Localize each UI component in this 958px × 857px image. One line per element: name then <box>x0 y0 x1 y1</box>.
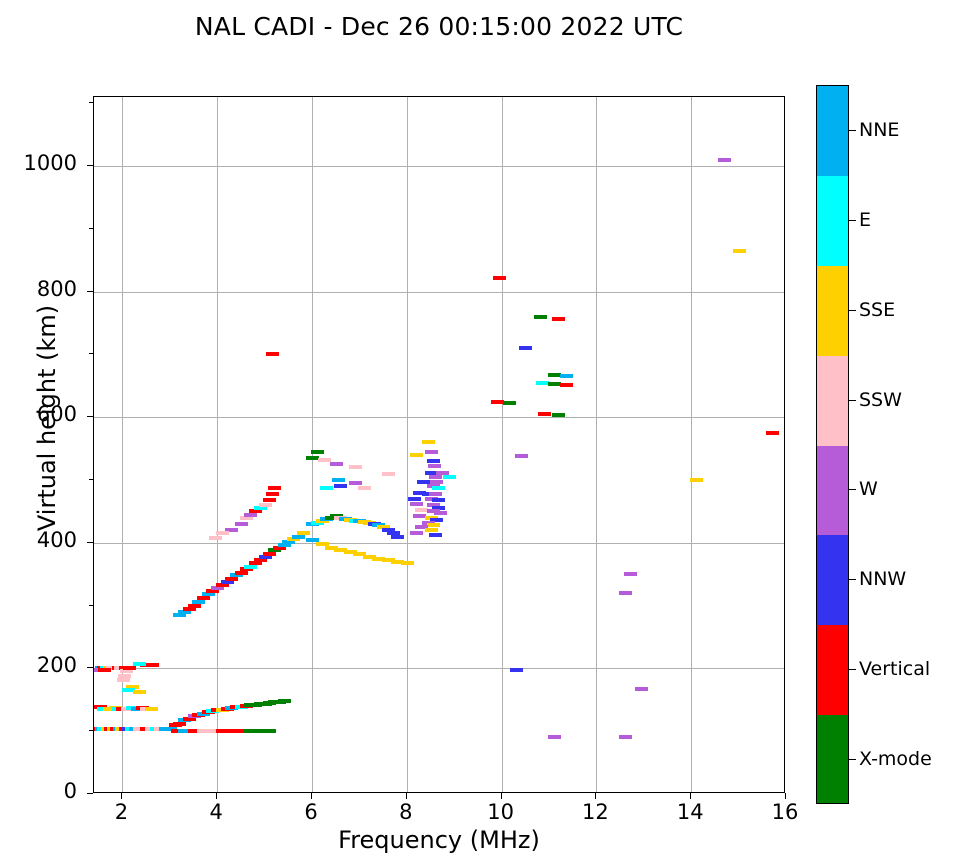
gridline-horizontal <box>94 166 784 167</box>
data-mark <box>263 498 276 502</box>
data-mark <box>519 346 532 350</box>
data-mark <box>408 497 421 501</box>
gridline-vertical <box>691 97 692 792</box>
colorbar-label-sse: SSE <box>859 299 895 321</box>
x-axis-tick-label: 10 <box>471 800 531 824</box>
data-mark <box>690 478 703 482</box>
data-mark <box>197 596 210 600</box>
gridline-vertical <box>502 97 503 792</box>
data-mark <box>235 571 248 575</box>
y-axis-tick <box>87 165 93 166</box>
colorbar-segment-sse[interactable] <box>817 266 848 356</box>
y-axis-tick <box>87 793 93 794</box>
data-mark <box>235 522 248 526</box>
data-mark <box>436 471 449 475</box>
data-mark <box>635 687 648 691</box>
x-axis-tick <box>311 793 312 799</box>
data-mark <box>552 413 565 417</box>
colorbar-tick <box>849 130 856 131</box>
data-mark <box>434 511 447 515</box>
data-mark <box>510 668 523 672</box>
data-mark <box>552 317 565 321</box>
y-axis-tick-label: 0 <box>0 779 77 803</box>
data-mark <box>619 591 632 595</box>
y-axis-label: Virtual height (km) <box>33 238 61 598</box>
data-mark <box>515 454 528 458</box>
colorbar-label-e: E <box>859 209 871 231</box>
colorbar-tick <box>849 489 856 490</box>
data-mark <box>432 486 445 490</box>
colorbar-tick <box>849 400 856 401</box>
data-mark <box>401 561 414 565</box>
data-mark <box>619 735 632 739</box>
data-mark <box>192 600 205 604</box>
y-axis-minor-tick <box>89 479 93 480</box>
colorbar-label-ssw: SSW <box>859 389 902 411</box>
x-axis-tick-label: 2 <box>91 800 151 824</box>
colorbar-tick <box>849 310 856 311</box>
colorbar-segment-nne[interactable] <box>817 86 848 176</box>
y-axis-minor-tick <box>89 353 93 354</box>
data-mark <box>268 486 281 490</box>
y-axis-minor-tick <box>89 605 93 606</box>
y-axis-tick <box>87 542 93 543</box>
data-mark <box>560 374 573 378</box>
x-axis-tick-label: 16 <box>755 800 815 824</box>
colorbar-tick <box>849 579 856 580</box>
data-mark <box>538 412 551 416</box>
data-mark <box>98 668 111 672</box>
x-axis-tick <box>595 793 596 799</box>
data-mark <box>173 722 186 726</box>
ionogram-figure: NAL CADI - Dec 26 00:15:00 2022 UTC 2468… <box>0 0 958 857</box>
y-axis-minor-tick <box>89 228 93 229</box>
data-mark <box>425 528 438 532</box>
x-axis-tick-label: 6 <box>281 800 341 824</box>
data-mark <box>278 699 291 703</box>
gridline-horizontal <box>94 543 784 544</box>
gridline-vertical <box>596 97 597 792</box>
data-mark <box>133 690 146 694</box>
colorbar-label-w: W <box>859 478 878 500</box>
y-axis-minor-tick <box>89 102 93 103</box>
data-mark <box>427 523 440 527</box>
gridline-vertical <box>407 97 408 792</box>
gridline-horizontal <box>94 292 784 293</box>
data-mark <box>733 249 746 253</box>
data-mark <box>429 475 442 479</box>
data-mark <box>358 486 371 490</box>
colorbar-segment-vertical[interactable] <box>817 625 848 715</box>
data-mark <box>216 531 229 535</box>
data-mark <box>320 486 333 490</box>
data-mark <box>427 459 440 463</box>
colorbar-tick <box>849 220 856 221</box>
y-axis-tick-label: 200 <box>0 653 77 677</box>
colorbar-tick <box>849 669 856 670</box>
colorbar-tick <box>849 759 856 760</box>
data-mark <box>534 315 547 319</box>
colorbar-segment-ssw[interactable] <box>817 356 848 446</box>
data-mark <box>430 480 443 484</box>
data-mark <box>209 536 222 540</box>
x-axis-tick <box>690 793 691 799</box>
data-mark <box>766 431 779 435</box>
gridline-horizontal <box>94 417 784 418</box>
colorbar-label-vertical: Vertical <box>859 658 930 680</box>
data-mark <box>145 707 158 711</box>
data-mark <box>391 535 404 539</box>
x-axis-tick <box>785 793 786 799</box>
data-mark <box>410 453 423 457</box>
data-mark <box>410 531 423 535</box>
y-axis-tick <box>87 291 93 292</box>
data-mark <box>425 450 438 454</box>
y-axis-minor-tick <box>89 730 93 731</box>
data-mark <box>266 492 279 496</box>
colorbar-label-nnw: NNW <box>859 568 906 590</box>
x-axis-tick-label: 12 <box>565 800 625 824</box>
plot-canvas[interactable] <box>93 96 785 793</box>
data-mark <box>259 503 272 507</box>
y-axis-tick <box>87 416 93 417</box>
data-mark <box>133 662 146 666</box>
gridline-vertical <box>312 97 313 792</box>
data-mark <box>244 565 257 569</box>
data-mark <box>503 401 516 405</box>
data-mark <box>266 352 279 356</box>
data-mark <box>146 663 159 667</box>
colorbar-segment-x-mode[interactable] <box>817 715 848 804</box>
data-mark <box>429 492 442 496</box>
colorbar-segment-e[interactable] <box>817 176 848 266</box>
gridline-vertical <box>217 97 218 792</box>
x-axis-tick <box>121 793 122 799</box>
x-axis-tick-label: 14 <box>660 800 720 824</box>
plot-title: NAL CADI - Dec 26 00:15:00 2022 UTC <box>0 12 878 41</box>
x-axis-tick-label: 4 <box>186 800 246 824</box>
x-axis-tick <box>406 793 407 799</box>
x-axis-tick <box>501 793 502 799</box>
data-mark <box>334 484 347 488</box>
azimuth-colorbar[interactable] <box>816 85 849 804</box>
colorbar-label-nne: NNE <box>859 119 899 141</box>
data-mark <box>318 458 331 462</box>
data-mark <box>117 678 130 682</box>
gridline-horizontal <box>94 668 784 669</box>
data-mark <box>306 538 319 542</box>
x-axis-tick <box>216 793 217 799</box>
data-mark <box>410 502 423 506</box>
colorbar-segment-nnw[interactable] <box>817 535 848 625</box>
data-mark <box>429 533 442 537</box>
data-mark <box>624 572 637 576</box>
data-mark <box>417 480 430 484</box>
y-axis-tick <box>87 667 93 668</box>
data-mark <box>422 440 435 444</box>
data-mark <box>548 735 561 739</box>
data-mark <box>332 478 345 482</box>
data-mark <box>311 450 324 454</box>
data-mark <box>493 276 506 280</box>
y-axis-tick-label: 1000 <box>0 151 77 175</box>
data-mark <box>349 465 362 469</box>
data-mark <box>560 383 573 387</box>
data-mark <box>330 462 343 466</box>
data-mark <box>297 531 310 535</box>
data-mark <box>349 481 362 485</box>
data-mark <box>443 475 456 479</box>
data-mark <box>263 729 276 733</box>
data-mark <box>428 464 441 468</box>
x-axis-label: Frequency (MHz) <box>93 826 785 854</box>
data-mark <box>718 158 731 162</box>
data-mark <box>123 666 136 670</box>
x-axis-tick-label: 8 <box>376 800 436 824</box>
colorbar-segment-w[interactable] <box>817 446 848 536</box>
data-mark <box>382 472 395 476</box>
colorbar-label-x-mode: X-mode <box>859 748 932 770</box>
data-mark <box>432 498 445 502</box>
